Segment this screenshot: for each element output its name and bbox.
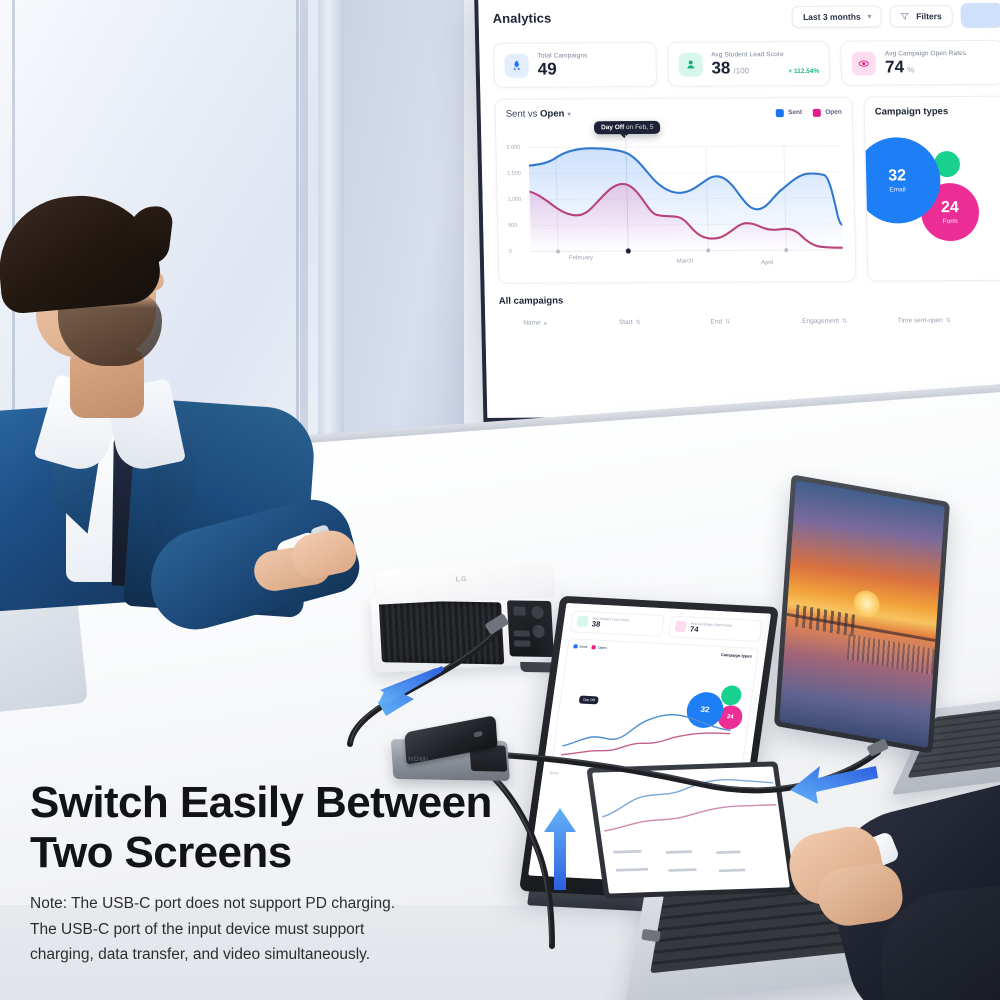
y-tick-2000: 2,000 [506, 145, 520, 151]
y-tick-1000: 1,000 [508, 197, 522, 203]
projection-surface: Analytics Last 3 months ▾ Filters [478, 0, 1000, 418]
sort-asc-icon: ▴ [544, 320, 547, 327]
column-label: Engagement [802, 318, 839, 325]
column-label: Name [523, 320, 540, 327]
projector-brand-label: LG [456, 576, 468, 584]
mini-legend-open: Open [592, 645, 607, 650]
bubble-label: Form [943, 218, 958, 225]
bubble-other [720, 685, 743, 706]
x-tick-march: March [677, 259, 694, 265]
table-title: All campaigns [499, 293, 1000, 307]
legend-swatch [573, 644, 578, 648]
mini-kpi-card: Avg Campaign Open Rates 74 [668, 615, 763, 641]
laptop-sunset [772, 488, 1000, 776]
laptop-screen [592, 766, 790, 893]
laptop-screen-chart [592, 766, 790, 893]
projector-vent-grille [379, 600, 505, 664]
column-header-time-sent-open[interactable]: Time sent-open ⇅ [898, 317, 1000, 325]
projected-screen: Analytics Last 3 months ▾ Filters [474, 0, 1000, 428]
legend-swatch [592, 645, 597, 649]
person-icon [576, 616, 589, 627]
y-tick-0: 0 [509, 249, 512, 255]
kpi-card-total-campaigns: Total Campaigns 49 [493, 42, 657, 88]
chart-legend: Sent Open [776, 108, 842, 116]
chart-title-prefix: Sent vs [506, 109, 541, 120]
mini-kpi-body: Avg Campaign Open Rates 74 [690, 622, 733, 636]
rocket-icon [504, 53, 529, 77]
column-label: Time sent-open [898, 317, 943, 324]
column-label: End [711, 318, 723, 325]
hair [0, 189, 163, 315]
note-line-1: Note: The USB-C port does not support PD… [30, 891, 550, 916]
primary-action-button[interactable] [960, 3, 1000, 28]
kpi-label: Avg Campaign Open Rates [885, 50, 993, 58]
legend-item-sent: Sent [776, 108, 802, 116]
note-line-3: charging, data transfer, and video simul… [30, 942, 550, 967]
mini-line-chart [559, 696, 736, 766]
kpi-card-lead-score: Avg Student Lead Score 38 /100 + 112.54% [667, 41, 831, 87]
product-scene: Analytics Last 3 months ▾ Filters [0, 0, 1000, 1000]
mini-chart-head: Sent Open Campaign types [573, 644, 752, 658]
laptop-lid [774, 474, 950, 753]
sort-icon: ⇅ [725, 318, 730, 325]
note-line-2: The USB-C port of the input device must … [30, 917, 550, 942]
kpi-card-open-rates: Avg Campaign Open Rates 74 % [841, 40, 1000, 86]
kpi-delta: + 112.54% [788, 68, 819, 75]
column-label: Start [619, 319, 633, 326]
kpi-body: Avg Campaign Open Rates 74 % [885, 50, 993, 76]
column-label: Name [550, 770, 560, 774]
projector-port-panel [507, 600, 554, 657]
mini-legend: Sent Open [573, 644, 607, 650]
x-tick-april: April [761, 260, 773, 266]
table-header-row: Name ▴ Start ⇅ End ⇅ Engagement ⇅ [499, 317, 1000, 327]
sort-icon: ⇅ [842, 318, 847, 325]
eye-icon [675, 621, 688, 632]
sun-wallpaper-element [853, 588, 881, 618]
note-text: Note: The USB-C port does not support PD… [30, 891, 550, 966]
date-range-label: Last 3 months [803, 11, 861, 21]
kpi-value: 38 [711, 59, 730, 76]
legend-item-open: Open [813, 108, 842, 116]
analytics-dashboard: Analytics Last 3 months ▾ Filters [478, 0, 1000, 418]
kpi-value: 49 [538, 60, 557, 77]
chart-title-bold: Open [540, 108, 565, 119]
sent-vs-open-card: Sent vs Open▾ Sent Open [494, 97, 856, 284]
chart-row: Sent vs Open▾ Sent Open [494, 96, 1000, 284]
mini-pie-title: Campaign types [721, 652, 753, 659]
headline: Switch Easily Between Two Screens [30, 778, 550, 877]
legend-swatch [776, 109, 784, 117]
headline-line-1: Switch Easily Between [30, 778, 550, 828]
kpi-value-row: 74 % [885, 58, 993, 76]
bubble-label: Email [889, 186, 905, 193]
filter-icon [901, 12, 909, 20]
legend-label: Sent [579, 645, 587, 649]
line-plot: Day Off on Feb, 5 2,000 1,500 1,000 500 … [506, 124, 845, 268]
kpi-value-row: 49 [538, 60, 646, 78]
kpi-label: Avg Student Lead Score [711, 51, 819, 59]
kpi-suffix: /100 [733, 66, 749, 75]
kpi-body: Avg Student Lead Score 38 /100 + 112.54% [711, 51, 819, 77]
laptop-screen [779, 480, 944, 748]
arrow-to-projector [356, 664, 452, 728]
y-tick-1500: 1,500 [507, 171, 521, 177]
card-header: Sent vs Open▾ Sent Open [506, 107, 842, 120]
projector-port [532, 625, 545, 638]
column-header-engagement[interactable]: Engagement ⇅ [802, 317, 898, 325]
person-icon [678, 52, 703, 76]
legend-label: Sent [788, 109, 802, 116]
pie-chart-title: Campaign types [875, 106, 994, 118]
mini-kpi-card: Avg Student Lead Score 38 [570, 610, 665, 636]
arrow-to-laptop [784, 756, 882, 810]
y-tick-500: 500 [508, 223, 517, 229]
sort-icon: ⇅ [636, 319, 641, 326]
bubble-value: 32 [888, 168, 906, 184]
date-range-select[interactable]: Last 3 months ▾ [792, 5, 883, 28]
kpi-value: 74 [885, 58, 904, 75]
page-title: Analytics [493, 11, 552, 26]
bubble-plot: 24 Form 32 Email [875, 125, 997, 276]
chevron-down-icon: ▾ [567, 111, 571, 118]
filters-button[interactable]: Filters [890, 5, 953, 27]
kpi-suffix: % [907, 65, 914, 74]
x-tick-february: February [569, 255, 593, 261]
dashboard-header: Analytics Last 3 months ▾ Filters [492, 3, 1000, 31]
chevron-down-icon: ▾ [868, 12, 872, 20]
campaign-types-card: Campaign types 24 Form 32 Email [863, 96, 1000, 282]
legend-label: Open [825, 109, 842, 116]
hub-hdmi-label: HDMI [408, 756, 429, 764]
mini-chart-card: Sent Open Campaign types 24 [551, 638, 759, 775]
column-header-end[interactable]: End ⇅ [711, 318, 803, 326]
column-header-name[interactable]: Name ▴ [523, 319, 619, 327]
hub-indicator-button[interactable] [473, 731, 482, 738]
headline-line-2: Two Screens [30, 828, 550, 878]
legend-swatch [813, 108, 821, 116]
sort-icon: ⇅ [946, 317, 951, 324]
projector-port [531, 606, 544, 619]
projector-port [514, 640, 530, 646]
kpi-value-row: 38 /100 + 112.54% [711, 59, 819, 77]
bubble-value: 24 [941, 200, 959, 216]
column-header-start[interactable]: Start ⇅ [619, 319, 711, 327]
line-chart-svg [528, 124, 843, 268]
laptop-lid [586, 761, 795, 898]
kpi-cards: Total Campaigns 49 Avg Student Le [493, 40, 1000, 88]
projector-hdmi-port [514, 630, 530, 636]
kpi-label: Total Campaigns [537, 52, 645, 60]
header-controls: Last 3 months ▾ Filters [792, 3, 1000, 29]
mini-kpi-body: Avg Student Lead Score 38 [591, 616, 629, 629]
seated-businessman [0, 196, 344, 600]
legend-label: Open [598, 646, 607, 650]
kpi-body: Total Campaigns 49 [537, 52, 645, 78]
marketing-copy: Switch Easily Between Two Screens Note: … [30, 778, 550, 967]
chart-title[interactable]: Sent vs Open▾ [506, 108, 571, 119]
projector-port [513, 606, 525, 615]
mini-chart-tooltip: Day Off [579, 695, 600, 704]
eye-icon [852, 51, 877, 75]
filters-label: Filters [916, 11, 942, 21]
mini-legend-sent: Sent [573, 644, 587, 649]
mini-kpi-row: Avg Student Lead Score 38 Avg Campaign O… [570, 610, 763, 641]
